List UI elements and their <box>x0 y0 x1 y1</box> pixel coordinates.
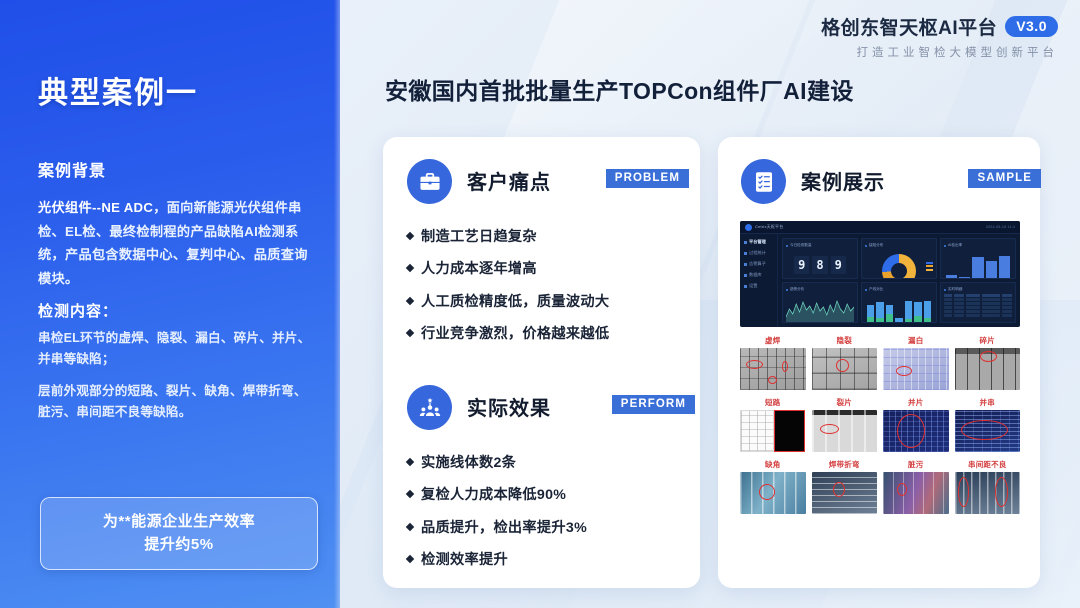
defect-image <box>812 410 878 452</box>
defect-label: 脏污 <box>883 459 949 470</box>
defect-cell: 焊带折弯 <box>812 459 878 514</box>
defect-row: 虚焊 隐裂 漏白 碎片 <box>740 335 1020 390</box>
dashboard-big-number: 989 <box>786 256 854 274</box>
defect-cell: 碎片 <box>955 335 1021 390</box>
bullet-text: 人力成本逐年增高 <box>421 259 537 280</box>
defect-cell: 裂片 <box>812 397 878 452</box>
detect-heading: 检测内容： <box>38 300 118 321</box>
bar-chart <box>944 252 1012 279</box>
result-line-1: 为**能源企业生产效率 <box>51 511 307 534</box>
bullet-text: 人工质检精度低，质量波动大 <box>421 292 609 313</box>
list-item: 人力成本逐年增高 <box>407 259 679 280</box>
diamond-bullet-icon <box>406 232 414 240</box>
defect-sample-grid: 虚焊 隐裂 漏白 碎片 <box>740 335 1020 521</box>
defect-image <box>740 348 806 390</box>
defect-row: 短路 裂片 并片 并串 <box>740 397 1020 452</box>
dashboard-logo-icon <box>745 224 752 231</box>
list-item: 品质提升，检出率提升3% <box>407 518 679 539</box>
sample-card: 案例展示 SAMPLE Cetrix天枢平台 2024-05-16 11:4 平… <box>718 137 1040 588</box>
defect-image <box>883 472 949 514</box>
donut-legend <box>926 262 933 273</box>
defect-image <box>955 348 1021 390</box>
defect-cell: 并片 <box>883 397 949 452</box>
diamond-bullet-icon <box>406 264 414 272</box>
case-title: 典型案例一 <box>38 68 198 112</box>
diamond-bullet-icon <box>406 555 414 563</box>
problem-badge: PROBLEM <box>606 169 689 188</box>
defect-image <box>955 472 1021 514</box>
bullet-text: 实施线体数2条 <box>421 453 516 474</box>
data-table <box>944 294 1012 317</box>
defect-cell: 短路 <box>740 397 806 452</box>
result-line-2: 提升约5% <box>51 534 307 557</box>
dashboard-panel-count: 今日检测数量 989 截止 09:00 当日检出 已检测 <box>782 238 858 279</box>
defect-image <box>812 348 878 390</box>
defect-label: 缺角 <box>740 459 806 470</box>
defect-label: 裂片 <box>812 397 878 408</box>
list-item: 检测效率提升 <box>407 550 679 571</box>
defect-row: 缺角 焊带折弯 脏污 串间距不良 <box>740 459 1020 514</box>
sample-title: 案例展示 <box>801 166 885 195</box>
dashboard-nav-item[interactable]: 平台管理 <box>744 239 773 245</box>
defect-cell: 隐裂 <box>812 335 878 390</box>
dashboard-panel-area: 趋势分析 <box>782 282 858 323</box>
checklist-icon <box>741 159 786 204</box>
performance-title: 实际效果 <box>467 392 551 421</box>
problem-section: 客户痛点 PROBLEM 制造工艺日趋复杂 人力成本逐年增高 人工质检精度低，质… <box>407 159 679 356</box>
list-item: 制造工艺日趋复杂 <box>407 227 679 248</box>
background-body: 光伏组件--NE ADC，面向新能源光伏组件串检、EL检、最终检制程的产品缺陷A… <box>38 196 308 290</box>
defect-label: 焊带折弯 <box>812 459 878 470</box>
performance-section: 实际效果 PERFORM 实施线体数2条 复检人力成本降低90% 品质提升，检出… <box>407 385 679 582</box>
stacked-bar-chart <box>865 295 933 323</box>
background-heading: 案例背景 <box>38 157 106 181</box>
background-lead: 光伏组件--NE ADC <box>38 200 153 215</box>
dashboard-nav-item[interactable]: 数据库 <box>744 272 773 278</box>
detect-line-2: 层前外观部分的短路、裂片、缺角、焊带折弯、脏污、串间距不良等缺陷。 <box>38 381 316 424</box>
dashboard-topbar: Cetrix天枢平台 2024-05-16 11:4 <box>740 221 1020 234</box>
defect-cell: 串间距不良 <box>955 459 1021 514</box>
defect-image <box>740 410 806 452</box>
dashboard-nav-item[interactable]: 告警算子 <box>744 261 773 267</box>
defect-label: 并串 <box>955 397 1021 408</box>
dashboard-panel-hbars: AI检出率 <box>940 238 1016 279</box>
defect-image <box>883 348 949 390</box>
sample-badge: SAMPLE <box>968 169 1041 188</box>
diamond-bullet-icon <box>406 458 414 466</box>
briefcase-icon <box>407 159 452 204</box>
bullet-text: 检测效率提升 <box>421 550 508 571</box>
defect-label: 漏白 <box>883 335 949 346</box>
diamond-bullet-icon <box>406 522 414 530</box>
version-badge: V3.0 <box>1005 16 1058 37</box>
list-item: 行业竞争激烈，价格越来越低 <box>407 324 679 345</box>
list-item: 复检人力成本降低90% <box>407 485 679 506</box>
dashboard-panel-donut: 缺陷分布 <box>861 238 937 279</box>
dashboard-panel-vbars: 产线对比 <box>861 282 937 323</box>
left-content-card: 客户痛点 PROBLEM 制造工艺日趋复杂 人力成本逐年增高 人工质检精度低，质… <box>383 137 700 588</box>
bullet-text: 品质提升，检出率提升3% <box>421 518 587 539</box>
performance-bullet-list: 实施线体数2条 复检人力成本降低90% 品质提升，检出率提升3% 检测效率提升 <box>407 453 679 571</box>
dashboard-app-name: Cetrix天枢平台 <box>755 224 783 230</box>
defect-image <box>812 472 878 514</box>
defect-image <box>883 410 949 452</box>
diamond-bullet-icon <box>406 329 414 337</box>
result-highlight-badge: 为**能源企业生产效率 提升约5% <box>40 497 318 570</box>
defect-label: 碎片 <box>955 335 1021 346</box>
list-item: 实施线体数2条 <box>407 453 679 474</box>
defect-label: 串间距不良 <box>955 459 1021 470</box>
defect-label: 虚焊 <box>740 335 806 346</box>
brand-block: 格创东智天枢AI平台 V3.0 打造工业智检大模型创新平台 <box>821 13 1058 60</box>
brand-subtitle: 打造工业智检大模型创新平台 <box>821 44 1058 60</box>
detect-line-1: 串检EL环节的虚焊、隐裂、漏白、碎片、并片、并串等缺陷； <box>38 328 316 371</box>
brand-name: 格创东智天枢AI平台 <box>821 13 997 40</box>
defect-cell: 漏白 <box>883 335 949 390</box>
bullet-text: 制造工艺日趋复杂 <box>421 227 537 248</box>
performance-badge: PERFORM <box>612 395 695 414</box>
diamond-bullet-icon <box>406 296 414 304</box>
donut-chart <box>882 254 916 279</box>
case-sidebar: 典型案例一 案例背景 光伏组件--NE ADC，面向新能源光伏组件串检、EL检、… <box>0 0 340 608</box>
dashboard-date: 2024-05-16 11:4 <box>986 225 1015 229</box>
detect-body: 串检EL环节的虚焊、隐裂、漏白、碎片、并片、并串等缺陷； 层前外观部分的短路、裂… <box>38 328 316 424</box>
bullet-text: 行业竞争激烈，价格越来越低 <box>421 324 609 345</box>
dashboard-panel-table: 实时明细 <box>940 282 1016 323</box>
dashboard-nav-item[interactable]: 设置 <box>744 283 773 289</box>
defect-label: 短路 <box>740 397 806 408</box>
list-item: 人工质检精度低，质量波动大 <box>407 292 679 313</box>
defect-image <box>955 410 1021 452</box>
problem-bullet-list: 制造工艺日趋复杂 人力成本逐年增高 人工质检精度低，质量波动大 行业竞争激烈，价… <box>407 227 679 345</box>
sample-section-header: 案例展示 SAMPLE <box>741 159 1018 211</box>
defect-label: 隐裂 <box>812 335 878 346</box>
dashboard-screenshot: Cetrix天枢平台 2024-05-16 11:4 平台管理 过程统计 告警算… <box>740 221 1020 327</box>
area-chart <box>786 295 854 323</box>
team-idea-icon <box>407 385 452 430</box>
defect-cell: 虚焊 <box>740 335 806 390</box>
dashboard-sidebar-nav: 平台管理 过程统计 告警算子 数据库 设置 <box>740 234 778 327</box>
bullet-text: 复检人力成本降低90% <box>421 485 566 506</box>
diamond-bullet-icon <box>406 490 414 498</box>
defect-image <box>740 472 806 514</box>
defect-cell: 脏污 <box>883 459 949 514</box>
slide-title: 安徽国内首批批量生产TOPCon组件厂AI建设 <box>385 72 854 106</box>
defect-label: 并片 <box>883 397 949 408</box>
defect-cell: 缺角 <box>740 459 806 514</box>
problem-title: 客户痛点 <box>467 166 551 195</box>
dashboard-nav-item[interactable]: 过程统计 <box>744 250 773 256</box>
defect-cell: 并串 <box>955 397 1021 452</box>
